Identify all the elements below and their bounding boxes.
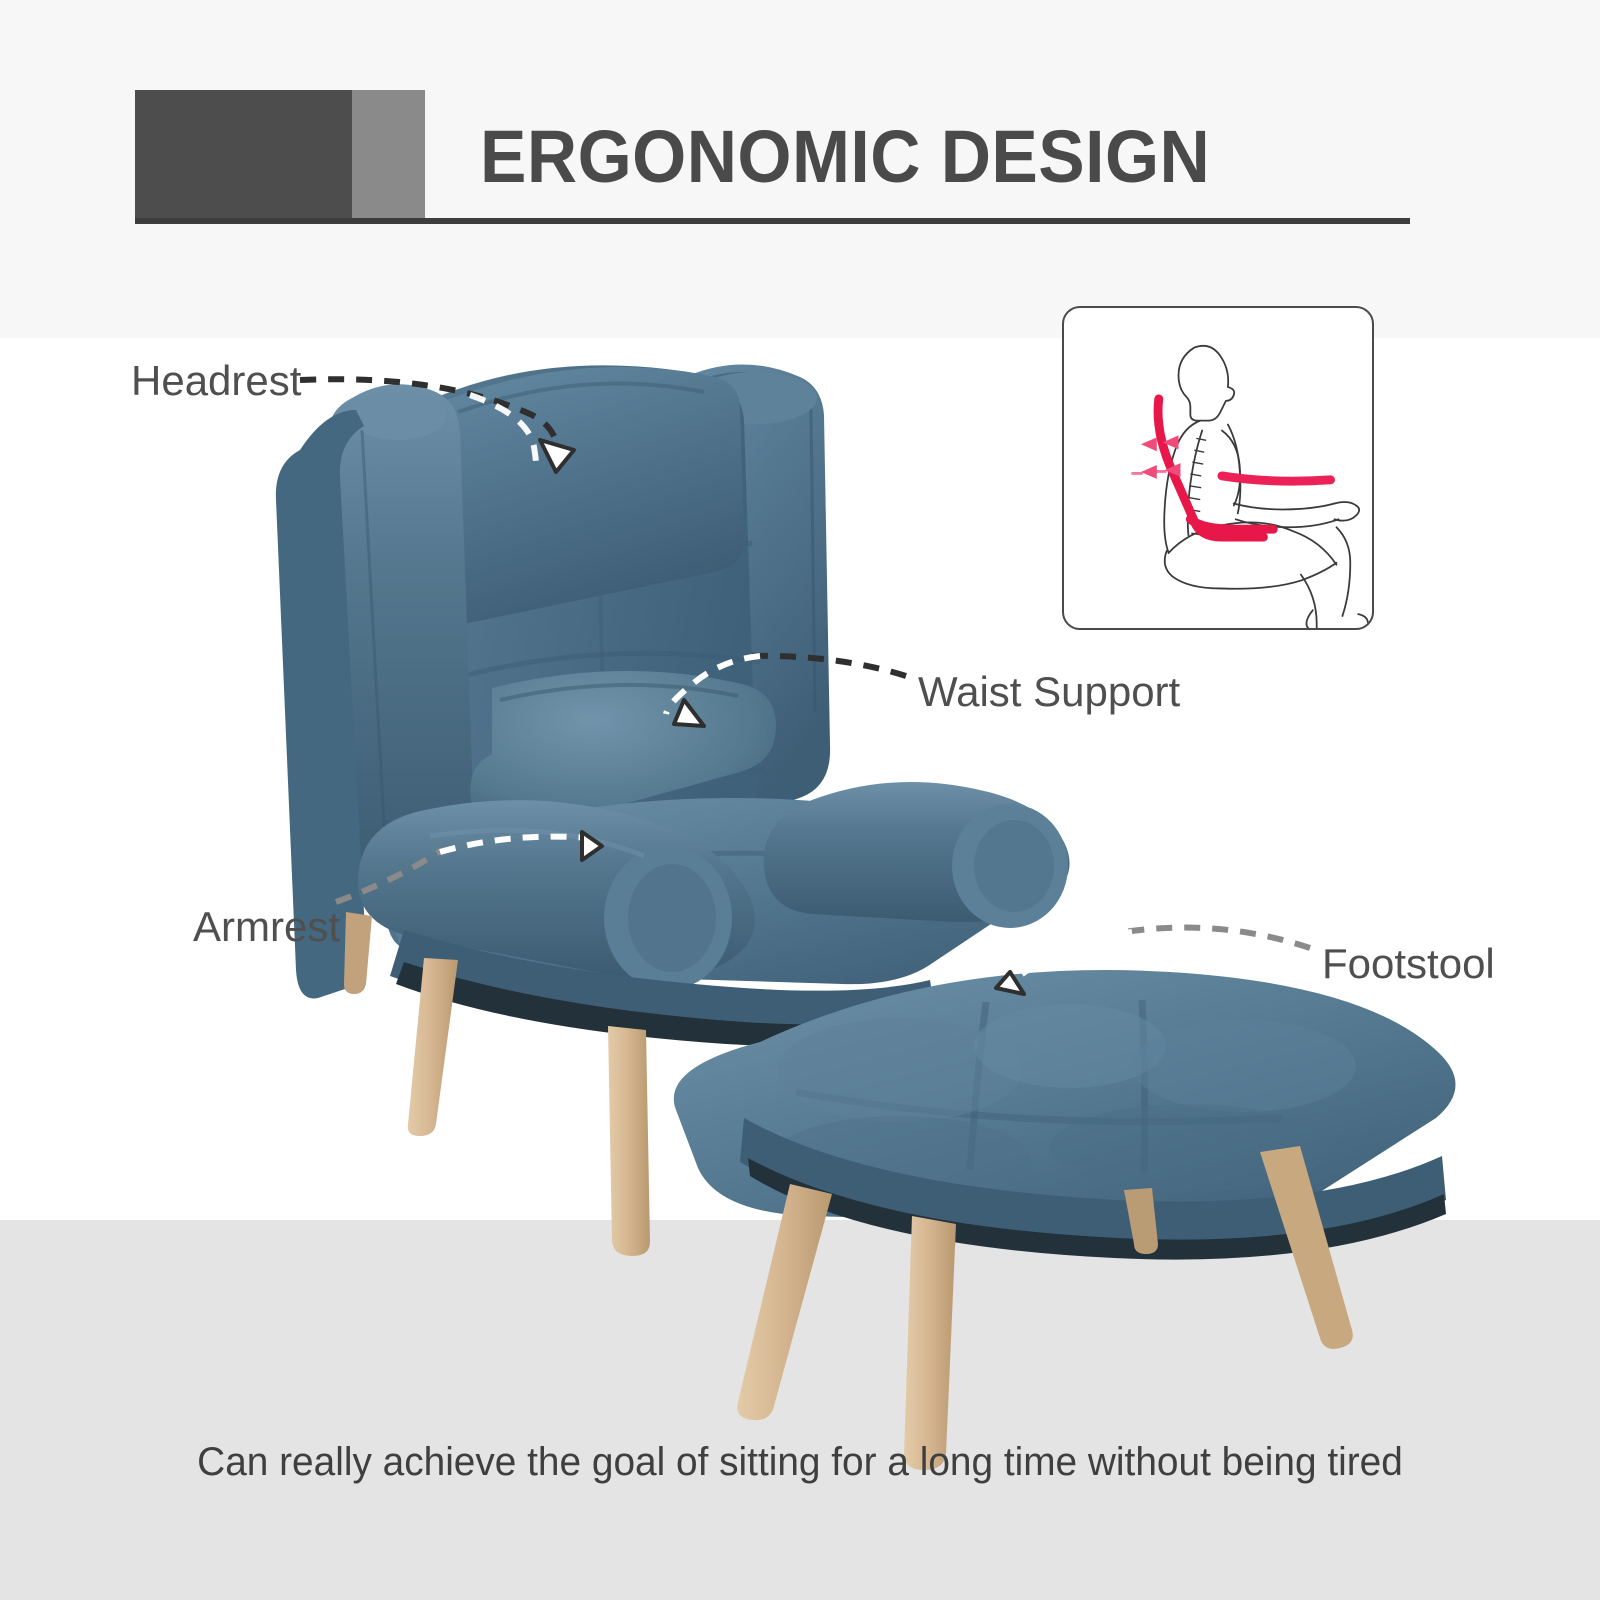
header-rule: [135, 218, 1410, 224]
callout-label-armrest: Armrest: [193, 903, 340, 951]
page-title: ERGONOMIC DESIGN: [480, 104, 1382, 208]
callout-label-headrest: Headrest: [131, 357, 301, 405]
seated-posture-diagram-panel: [1062, 306, 1374, 630]
callout-label-waist-support: Waist Support: [918, 668, 1180, 716]
posture-arm-support-line: [1222, 476, 1331, 481]
floor-band: [0, 1220, 1600, 1600]
header-accent-block-dark: [135, 90, 352, 222]
footer-caption: Can really achieve the goal of sitting f…: [24, 1440, 1576, 1485]
callout-label-footstool: Footstool: [1322, 940, 1495, 988]
header-accent-block-gray: [352, 90, 425, 222]
